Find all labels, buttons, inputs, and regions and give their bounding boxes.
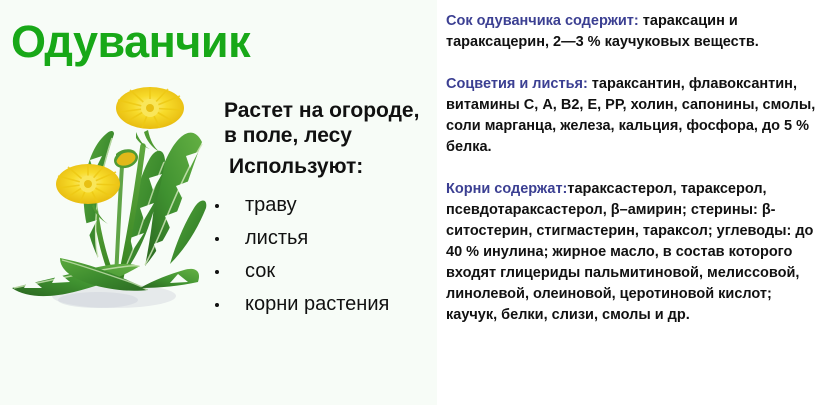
uses-list: траву листья сок корни растения	[215, 189, 443, 321]
composition-paragraph-juice: Сок одуванчика содержит: тараксацин и та…	[446, 11, 824, 53]
list-item: листья	[215, 222, 443, 255]
paragraph-heading: Сок одуванчика содержит:	[446, 13, 639, 29]
grows-line-2: в поле, лесу	[224, 123, 443, 148]
right-column: Сок одуванчика содержит: тараксацин и та…	[446, 11, 824, 326]
middle-column: Растет на огороде, в поле, лесу Использу…	[215, 98, 443, 321]
uses-heading: Используют:	[229, 154, 443, 179]
list-item: траву	[215, 189, 443, 222]
paragraph-heading: Соцветия и листья:	[446, 76, 588, 92]
paragraph-heading: Корни содержат:	[446, 181, 567, 197]
list-item: корни растения	[215, 288, 443, 321]
infographic-page: Одуванчик	[0, 0, 826, 405]
dandelion-illustration	[2, 86, 210, 318]
composition-paragraph-roots: Корни содержат:тараксастерол, тараксерол…	[446, 179, 824, 326]
list-item: сок	[215, 255, 443, 288]
grows-line-1: Растет на огороде,	[224, 98, 443, 123]
dandelion-bud	[113, 147, 139, 170]
page-title: Одуванчик	[11, 19, 250, 64]
composition-paragraph-flowers-leaves: Соцветия и листья: тараксантин, флавокса…	[446, 74, 824, 158]
dandelion-flower-upper	[116, 87, 184, 152]
paragraph-body: тараксастерол, тараксерол, псевдотаракса…	[446, 181, 813, 323]
